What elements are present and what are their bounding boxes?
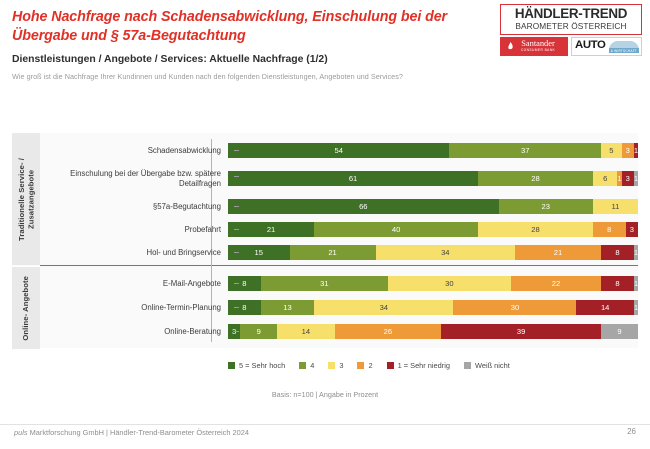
- row-label-traditional-2: §57a-Begutachtung: [40, 202, 227, 212]
- chart-row: Probefahrt21402883: [40, 222, 638, 237]
- footer-divider: [0, 424, 650, 425]
- group-band-traditional: Traditionelle Service- / Zusatzangebote: [12, 133, 40, 265]
- bar-segment: 61: [228, 171, 478, 186]
- row-label-online-6: Online-Termin-Planung: [40, 303, 227, 313]
- row-label-traditional-0: Schadensabwicklung: [40, 146, 227, 156]
- legend-label: 5 = Sehr hoch: [239, 361, 285, 370]
- legend-swatch: [228, 362, 235, 369]
- bar-segment: 54: [228, 143, 449, 158]
- axis-tick: [234, 307, 239, 308]
- bar-segment: 1: [634, 300, 638, 315]
- legend-label: 2: [368, 361, 372, 370]
- chart-row: Einschulung bei der Übergabe bzw. später…: [40, 169, 638, 188]
- axis-tick: [234, 252, 239, 253]
- axis-tick: [234, 283, 239, 284]
- legend-swatch: [328, 362, 335, 369]
- chart-panel: Traditionelle Service- / Zusatzangebote …: [12, 133, 638, 348]
- page-header: Hohe Nachfrage nach Schadensabwicklung, …: [0, 0, 650, 104]
- auto-wirtschaft-logo: AUTO & WIRTSCHAFT: [571, 37, 642, 56]
- bar-segment: 1: [634, 245, 638, 260]
- bar-segment: 8: [228, 300, 261, 315]
- axis-tick: [234, 206, 239, 207]
- basis-note: Basis: n=100 | Angabe in Prozent: [0, 390, 650, 399]
- stacked-bar: 662311: [228, 199, 638, 214]
- chart-legend: 5 = Sehr hoch4321 = Sehr niedrigWeiß nic…: [228, 361, 638, 370]
- bar-segment: 5: [601, 143, 622, 158]
- row-label-traditional-1: Einschulung bei der Übergabe bzw. später…: [40, 169, 227, 188]
- row-label-traditional-4: Hol- und Bringservice: [40, 248, 227, 258]
- haendler-trend-logo: HÄNDLER-TREND BAROMETER ÖSTERREICH: [500, 4, 642, 35]
- bar-segment: 14: [576, 300, 633, 315]
- axis-tick: [234, 229, 239, 230]
- group-band-traditional-label: Traditionelle Service- / Zusatzangebote: [17, 133, 36, 265]
- chart-row: Schadensabwicklung5437531: [40, 143, 638, 158]
- flame-icon: [507, 42, 514, 50]
- row-label-online-5: E-Mail-Angebote: [40, 279, 227, 289]
- bar-segment: 9: [240, 324, 277, 339]
- bar-segment: 8: [601, 245, 634, 260]
- legend-item: 2: [357, 361, 372, 370]
- footer-source-brand: puls: [14, 428, 28, 437]
- legend-item: 5 = Sehr hoch: [228, 361, 285, 370]
- bar-segment: 21: [515, 245, 601, 260]
- bar-segment: 39: [441, 324, 601, 339]
- bar-segment: 40: [314, 222, 478, 237]
- bar-segment: 1: [634, 143, 638, 158]
- axis-tick: [234, 176, 239, 177]
- bar-segment: 3: [622, 171, 634, 186]
- stacked-bar: 5437531: [228, 143, 638, 158]
- bar-segment: 28: [478, 222, 593, 237]
- auto-sub: & WIRTSCHAFT: [609, 48, 639, 53]
- legend-item: 3: [328, 361, 343, 370]
- legend-swatch: [387, 362, 394, 369]
- chart-rows: Schadensabwicklung5437531Einschulung bei…: [40, 133, 638, 348]
- legend-label: 1 = Sehr niedrig: [398, 361, 450, 370]
- chart-row: Hol- und Bringservice1521342181: [40, 245, 638, 260]
- group-band-online: Online- Angebote: [12, 266, 40, 349]
- chart-row: §57a-Begutachtung662311: [40, 199, 638, 214]
- bar-segment: 22: [511, 276, 601, 291]
- chart-row: E-Mail-Angebote831302281: [40, 276, 638, 291]
- stacked-bar: 391426399: [228, 324, 638, 339]
- stacked-bar: 8133430141: [228, 300, 638, 315]
- brand-logo-block: HÄNDLER-TREND BAROMETER ÖSTERREICH Santa…: [500, 4, 642, 56]
- page-title: Hohe Nachfrage nach Schadensabwicklung, …: [12, 8, 482, 46]
- bar-segment: 11: [593, 199, 638, 214]
- legend-swatch: [299, 362, 306, 369]
- legend-item: Weiß nicht: [464, 361, 510, 370]
- bar-segment: 1: [634, 171, 638, 186]
- sponsor-logos: Santander CONSUMER BANK AUTO & WIRTSCHAF…: [500, 37, 642, 56]
- brand-tagline: BAROMETER ÖSTERREICH: [505, 21, 637, 31]
- bar-segment: 37: [449, 143, 601, 158]
- bar-segment: 21: [228, 222, 314, 237]
- stacked-bar: 831302281: [228, 276, 638, 291]
- chart-row: Online-Termin-Planung8133430141: [40, 300, 638, 315]
- bar-segment: 9: [601, 324, 638, 339]
- legend-item: 1 = Sehr niedrig: [387, 361, 450, 370]
- chart-row: Online-Beratung391426399: [40, 324, 638, 339]
- santander-logo: Santander CONSUMER BANK: [500, 37, 568, 56]
- bar-segment: 26: [335, 324, 442, 339]
- brand-name: HÄNDLER-TREND: [505, 7, 637, 21]
- footer-source: puls Marktforschung GmbH | Händler-Trend…: [14, 428, 249, 437]
- page-subtitle: Dienstleistungen / Angebote / Services: …: [12, 54, 328, 65]
- bar-segment: 66: [228, 199, 499, 214]
- legend-label: 3: [339, 361, 343, 370]
- bar-segment: 28: [478, 171, 593, 186]
- bar-segment: 34: [314, 300, 453, 315]
- footer-source-rest: Marktforschung GmbH | Händler-Trend-Baro…: [28, 428, 249, 437]
- legend-item: 4: [299, 361, 314, 370]
- bar-segment: 1: [634, 276, 638, 291]
- axis-tick: [234, 331, 239, 332]
- bar-segment: 3: [622, 143, 634, 158]
- bar-segment: 31: [261, 276, 388, 291]
- bar-segment: 21: [290, 245, 376, 260]
- bar-segment: 6: [593, 171, 618, 186]
- stacked-bar: 1521342181: [228, 245, 638, 260]
- group-band-online-label: Online- Angebote: [21, 276, 30, 341]
- bar-segment: 30: [453, 300, 576, 315]
- row-label-traditional-3: Probefahrt: [40, 225, 227, 235]
- bar-segment: 8: [601, 276, 634, 291]
- bar-segment: 8: [593, 222, 626, 237]
- axis-tick: [234, 150, 239, 151]
- bar-segment: 3: [626, 222, 638, 237]
- bar-segment: 8: [228, 276, 261, 291]
- legend-swatch: [357, 362, 364, 369]
- bar-segment: 23: [499, 199, 593, 214]
- page-number: 26: [627, 427, 636, 436]
- bar-segment: 34: [376, 245, 515, 260]
- stacked-bar: 61286131: [228, 171, 638, 186]
- stacked-bar: 21402883: [228, 222, 638, 237]
- bar-segment: 30: [388, 276, 511, 291]
- legend-swatch: [464, 362, 471, 369]
- bar-segment: 13: [261, 300, 314, 315]
- legend-label: 4: [310, 361, 314, 370]
- legend-label: Weiß nicht: [475, 361, 510, 370]
- row-label-online-7: Online-Beratung: [40, 327, 227, 337]
- bar-segment: 14: [277, 324, 334, 339]
- survey-question: Wie groß ist die Nachfrage Ihrer Kundinn…: [12, 72, 403, 81]
